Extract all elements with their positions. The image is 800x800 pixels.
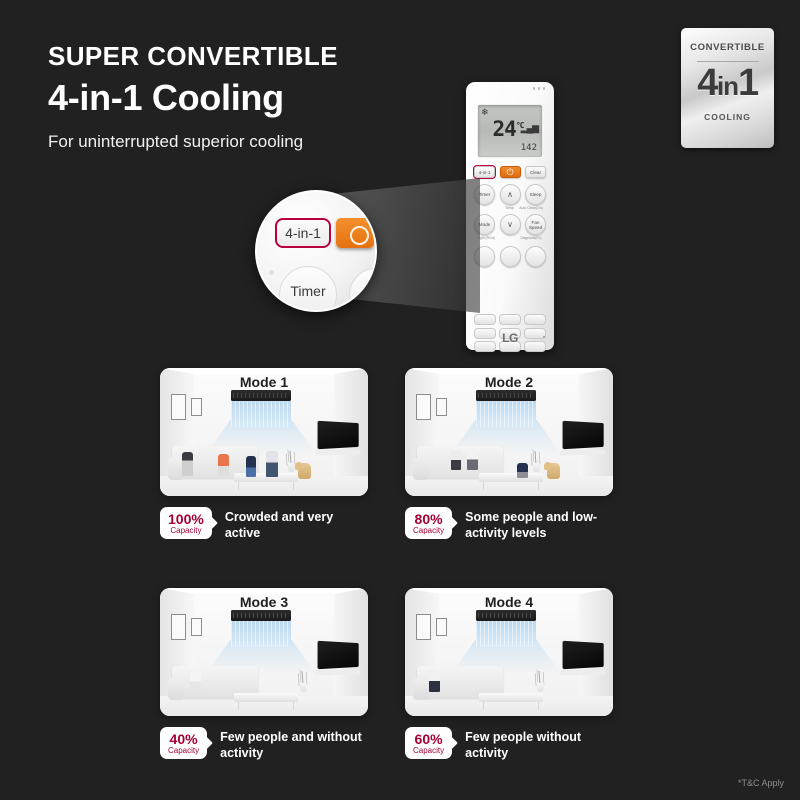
coffee-table <box>479 693 543 702</box>
capacity-badge-2: 80% Capacity <box>405 507 452 539</box>
badge-4in1: 4 in 1 <box>697 64 757 102</box>
magnified-partial-button[interactable] <box>349 268 377 312</box>
capacity-badge-4: 60% Capacity <box>405 727 452 759</box>
remote-button-extra-3[interactable] <box>525 246 546 267</box>
capacity-badge-3: 40% Capacity <box>160 727 207 759</box>
picture-frame-icon <box>171 394 186 420</box>
airflow-stream <box>231 401 291 427</box>
mode-title-2: Mode 2 <box>405 374 613 390</box>
tv-stand <box>315 670 360 676</box>
mode-title-1: Mode 1 <box>160 374 368 390</box>
badge-number-1: 1 <box>738 64 758 102</box>
mode-caption-2: 80% Capacity Some people and low-activit… <box>405 507 613 541</box>
sofa-arm <box>168 678 184 700</box>
snowflake-icon: ❄ <box>481 108 488 117</box>
dog-icon <box>298 463 311 479</box>
remote-button-clear[interactable]: Clear <box>525 166 546 178</box>
mode-description-3: Few people and without activity <box>220 727 368 761</box>
capacity-label-1: Capacity <box>168 527 204 536</box>
fan-bars-icon: ▂▄▆ <box>521 123 538 134</box>
remote-indicator-dots <box>533 87 546 90</box>
mode-card-4: Mode 4 60% Capacity Few people without a… <box>405 588 613 761</box>
magnified-led-dot <box>269 270 274 275</box>
person-figure <box>190 671 201 690</box>
remote-button-4in1[interactable]: 4-in-1 <box>474 166 495 178</box>
ac-unit-icon <box>476 390 536 401</box>
mode-card-1: Mode 1 100% Capacity Crowded and very ac… <box>160 368 368 541</box>
tv-stand <box>560 670 605 676</box>
capacity-percent-1: 100% <box>168 512 204 527</box>
mode-caption-3: 40% Capacity Few people and without acti… <box>160 727 368 761</box>
picture-frame-icon <box>191 398 202 416</box>
capacity-label-4: Capacity <box>413 747 444 756</box>
picture-frame-icon <box>416 614 431 640</box>
picture-frame-icon <box>436 398 447 416</box>
person-figure <box>246 456 256 477</box>
airflow-stream <box>231 621 291 647</box>
coffee-table <box>234 693 298 702</box>
mode-description-1: Crowded and very active <box>225 507 368 541</box>
mode-card-image-4: Mode 4 <box>405 588 613 716</box>
mode-caption-4: 60% Capacity Few people without activity <box>405 727 613 761</box>
capacity-percent-2: 80% <box>413 512 444 527</box>
ac-unit-icon <box>231 390 291 401</box>
plant-icon <box>529 450 543 472</box>
picture-frame-icon <box>416 394 431 420</box>
promo-banner: SUPER CONVERTIBLE 4-in-1 Cooling For uni… <box>0 0 800 800</box>
sublabel-diagnosis: Diagnosis(Fo) <box>516 236 546 240</box>
footnote-disclaimer: *T&C Apply <box>738 778 784 788</box>
remote-lcd-display: ❄ 24°C ▂▄▆ 142 <box>477 104 543 158</box>
person-figure <box>218 454 229 476</box>
mode-description-2: Some people and low-activity levels <box>465 507 613 541</box>
lcd-temp-value: 24 <box>493 117 516 141</box>
headline-subtitle: For uninterrupted superior cooling <box>48 132 338 152</box>
badge-in-text: in <box>717 73 738 99</box>
chevron-down-icon[interactable]: ∨ <box>500 214 521 235</box>
remote-grid-button[interactable] <box>524 314 546 325</box>
plant-icon <box>533 670 547 692</box>
remote-button-extra-2[interactable] <box>500 246 521 267</box>
magnified-4in1-button[interactable]: 4-in-1 <box>275 218 331 248</box>
person-figure <box>182 452 193 476</box>
badge-top-label: CONVERTIBLE <box>690 42 765 53</box>
convertible-badge: CONVERTIBLE 4 in 1 COOLING <box>681 28 774 148</box>
mode-caption-1: 100% Capacity Crowded and very active <box>160 507 368 541</box>
badge-number-4: 4 <box>697 64 717 102</box>
lg-logo: LG <box>466 331 554 345</box>
capacity-label-2: Capacity <box>413 527 444 536</box>
tv-icon <box>563 641 604 670</box>
page-title: 4-in-1 Cooling <box>48 77 338 118</box>
mode-title-4: Mode 4 <box>405 594 613 610</box>
lcd-sub-display: 142 <box>521 143 537 153</box>
power-icon[interactable]: ⏻ <box>500 166 521 178</box>
capacity-label-3: Capacity <box>168 747 199 756</box>
picture-frame-icon <box>171 614 186 640</box>
picture-frame-icon <box>436 618 447 636</box>
magnified-timer-button[interactable]: Timer <box>279 266 337 312</box>
sofa-arm <box>413 678 429 700</box>
ac-unit-icon <box>476 610 536 621</box>
person-figure <box>451 450 461 470</box>
tv-stand <box>560 450 605 456</box>
capacity-badge-1: 100% Capacity <box>160 507 212 539</box>
picture-frame-icon <box>191 618 202 636</box>
tv-stand <box>315 450 360 456</box>
tv-icon <box>318 641 359 670</box>
chevron-up-icon[interactable]: ∧ <box>500 184 521 205</box>
plant-icon <box>296 670 310 692</box>
mode-card-image-2: Mode 2 <box>405 368 613 496</box>
airflow-stream <box>476 401 536 427</box>
remote-button-fan-speed[interactable]: Fan Speed <box>525 214 546 235</box>
sofa-arm <box>413 458 429 480</box>
badge-bottom-label: COOLING <box>704 112 751 122</box>
capacity-percent-4: 60% <box>413 732 444 747</box>
mode-card-image-1: Mode 1 <box>160 368 368 496</box>
mode-card-image-3: Mode 3 <box>160 588 368 716</box>
person-figure <box>429 670 440 692</box>
mode-card-3: Mode 3 40% Capacity Few people and witho… <box>160 588 368 761</box>
coffee-table <box>479 473 543 482</box>
remote-button-sleep[interactable]: Sleep <box>525 184 546 205</box>
person-figure <box>467 449 478 470</box>
mode-description-4: Few people without activity <box>465 727 613 761</box>
mode-title-3: Mode 3 <box>160 594 368 610</box>
remote-grid-button[interactable] <box>499 314 521 325</box>
ac-unit-icon <box>231 610 291 621</box>
tv-icon <box>563 421 604 450</box>
magnified-power-icon[interactable] <box>336 218 374 248</box>
person-figure <box>266 451 278 477</box>
magnifier-circle: 4-in-1 Timer <box>255 190 377 312</box>
remote-grid-button[interactable] <box>474 314 496 325</box>
person-figure <box>517 463 528 478</box>
capacity-percent-3: 40% <box>168 732 199 747</box>
headline-block: SUPER CONVERTIBLE 4-in-1 Cooling For uni… <box>48 42 338 152</box>
mode-card-2: Mode 2 80% Capacity Some people and low-… <box>405 368 613 541</box>
headline-kicker: SUPER CONVERTIBLE <box>48 42 338 71</box>
sublabel-auto-clean: Auto Clean(On) <box>516 206 546 210</box>
tv-icon <box>318 421 359 450</box>
airflow-stream <box>476 621 536 647</box>
dog-icon <box>547 463 560 479</box>
